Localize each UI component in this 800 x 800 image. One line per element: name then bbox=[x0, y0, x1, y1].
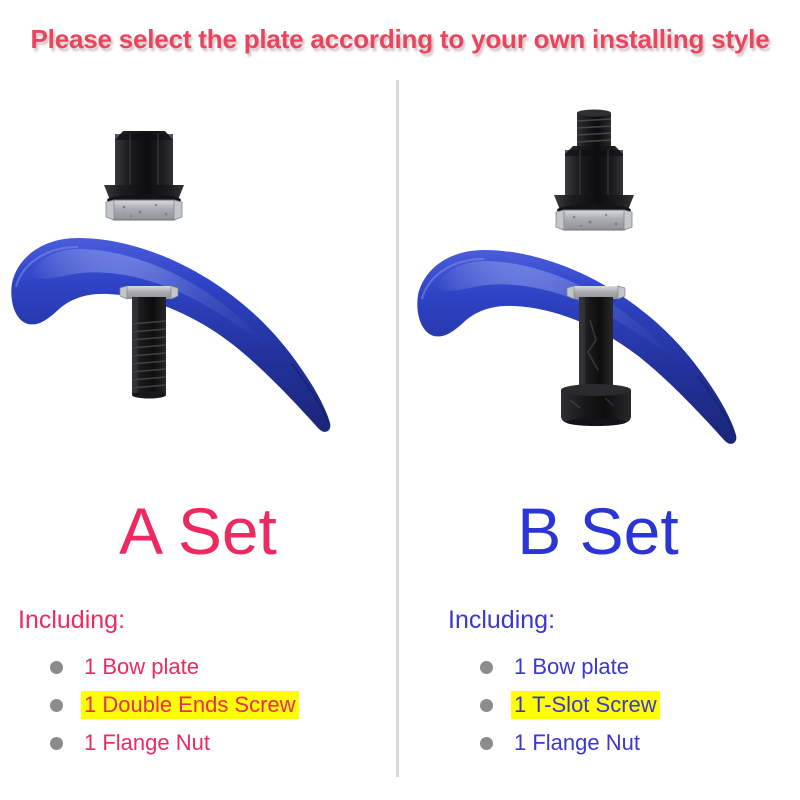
including-label-b: Including: bbox=[448, 606, 555, 635]
list-item: 1 Flange Nut bbox=[50, 724, 299, 762]
product-image-b-set bbox=[400, 90, 796, 450]
product-image-a-set bbox=[0, 90, 396, 450]
bullet-icon bbox=[50, 699, 63, 712]
panel-b-set[interactable]: B Set Including: 1 Bow plate 1 T-Slot Sc… bbox=[400, 90, 796, 790]
item-list-b: 1 Bow plate 1 T-Slot Screw 1 Flange Nut bbox=[480, 648, 660, 762]
flange-nut-graphic bbox=[104, 131, 184, 206]
washer-graphic bbox=[106, 200, 182, 220]
item-label: 1 Flange Nut bbox=[81, 729, 213, 757]
panel-divider bbox=[396, 80, 399, 777]
washer-graphic bbox=[556, 210, 632, 230]
list-item: 1 Bow plate bbox=[50, 648, 299, 686]
bow-plate-graphic bbox=[11, 238, 330, 432]
item-label: 1 Bow plate bbox=[511, 653, 632, 681]
double-ends-screw-graphic bbox=[132, 297, 166, 399]
set-title-b: B Set bbox=[400, 498, 796, 564]
comparison-page: Please select the plate according to you… bbox=[0, 0, 800, 800]
including-label-a: Including: bbox=[18, 606, 125, 635]
item-label: 1 Flange Nut bbox=[511, 729, 643, 757]
panel-a-set[interactable]: A Set Including: 1 Bow plate 1 Double En… bbox=[0, 90, 396, 790]
flange-nut-graphic bbox=[554, 146, 634, 216]
bullet-icon bbox=[50, 661, 63, 674]
bullet-icon bbox=[480, 737, 493, 750]
list-item: 1 Double Ends Screw bbox=[50, 686, 299, 724]
item-list-a: 1 Bow plate 1 Double Ends Screw 1 Flange… bbox=[50, 648, 299, 762]
item-label-highlighted: 1 T-Slot Screw bbox=[511, 691, 660, 719]
list-item: 1 Flange Nut bbox=[480, 724, 660, 762]
bullet-icon bbox=[480, 661, 493, 674]
item-label: 1 Bow plate bbox=[81, 653, 202, 681]
list-item: 1 T-Slot Screw bbox=[480, 686, 660, 724]
set-title-a: A Set bbox=[0, 498, 396, 564]
bullet-icon bbox=[50, 737, 63, 750]
item-label-highlighted: 1 Double Ends Screw bbox=[81, 691, 299, 719]
list-item: 1 Bow plate bbox=[480, 648, 660, 686]
page-title: Please select the plate according to you… bbox=[0, 24, 800, 55]
bullet-icon bbox=[480, 699, 493, 712]
